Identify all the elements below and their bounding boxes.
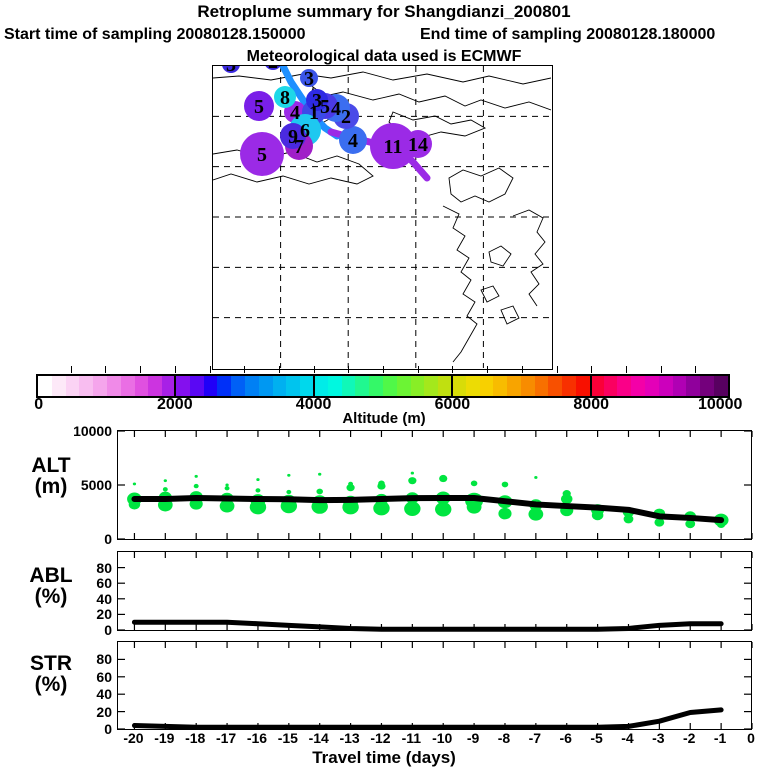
xtick-label--7: -7 xyxy=(529,730,541,746)
xtick-label--1: -1 xyxy=(714,730,726,746)
xtick-label--14: -14 xyxy=(309,730,329,746)
map-cluster-label: 3 xyxy=(226,66,236,76)
alt-scatter-blob xyxy=(286,490,291,494)
colorbar-segment-37 xyxy=(548,376,562,396)
map-canvas: 54532384245167931114 xyxy=(213,66,552,369)
alt-scatter-blob xyxy=(592,510,603,520)
alt-scatter-blob xyxy=(133,482,136,485)
xtick-label--11: -11 xyxy=(402,730,421,746)
colorbar-tick xyxy=(71,366,72,373)
alt-scatter-blob xyxy=(318,473,321,476)
map-cluster-label: 8 xyxy=(280,87,290,109)
colorbar-segment-21 xyxy=(328,376,342,396)
xtick-label--15: -15 xyxy=(278,730,298,746)
alt-scatter-blob xyxy=(624,515,634,524)
map-coastline xyxy=(513,210,545,306)
ytick-label-ABL-40: 40 xyxy=(40,591,112,607)
alt-scatter-blob xyxy=(378,481,385,487)
colorbar-tick xyxy=(314,366,315,373)
colorbar-tick xyxy=(210,366,211,373)
xtick-label--10: -10 xyxy=(432,730,452,746)
map-coastline xyxy=(213,72,551,84)
map-cluster-label: 2 xyxy=(268,66,278,73)
map-cluster-label: 14 xyxy=(408,134,428,156)
xtick-label--13: -13 xyxy=(339,730,359,746)
abl-panel[interactable] xyxy=(117,551,752,631)
xtick-label--2: -2 xyxy=(683,730,695,746)
map-cluster-label: 5 xyxy=(257,144,267,166)
colorbar-segment-6 xyxy=(121,376,135,396)
colorbar-divider-4000 xyxy=(313,374,315,398)
colorbar-divider-2000 xyxy=(174,374,176,398)
xtick-label--16: -16 xyxy=(247,730,267,746)
colorbar-tick xyxy=(522,366,523,373)
colorbar-segment-3 xyxy=(79,376,93,396)
alt-scatter-blob xyxy=(163,487,168,491)
altitude-colorbar[interactable] xyxy=(36,374,730,398)
alt-scatter-blob xyxy=(373,501,389,515)
map-cluster-label: 3 xyxy=(312,90,322,112)
alt-scatter-blob xyxy=(348,482,353,486)
ytick-label-STR-40: 40 xyxy=(40,686,112,702)
map-cluster-label: 11 xyxy=(384,136,403,158)
colorbar-segment-27 xyxy=(411,376,425,396)
colorbar-segment-31 xyxy=(466,376,480,396)
xtick-label--6: -6 xyxy=(559,730,571,746)
ytick-label-ABL-0: 0 xyxy=(40,622,112,638)
alt-scatter-blob xyxy=(255,488,260,492)
xtick-label--8: -8 xyxy=(498,730,510,746)
meteorological-data-note: Meteorological data used is ECMWF xyxy=(0,48,768,66)
ytick-label-STR-80: 80 xyxy=(40,651,112,667)
colorbar-segment-32 xyxy=(480,376,494,396)
colorbar-segment-28 xyxy=(424,376,438,396)
sampling-end-time: End time of sampling 20080128.180000 xyxy=(420,26,715,44)
colorbar-segment-45 xyxy=(659,376,673,396)
colorbar-tick xyxy=(383,366,384,373)
ytick-label-ALT-0: 0 xyxy=(40,531,112,547)
colorbar-segment-41 xyxy=(604,376,618,396)
colorbar-segment-13 xyxy=(217,376,231,396)
ytick-label-ALT-10000: 10000 xyxy=(40,423,112,439)
alt-scatter-blob xyxy=(435,502,451,516)
colorbar-segment-34 xyxy=(507,376,521,396)
abl-plot-area xyxy=(118,552,751,630)
ytick-label-ABL-80: 80 xyxy=(40,560,112,576)
colorbar-segment-1 xyxy=(52,376,66,396)
colorbar-segment-49 xyxy=(714,376,728,396)
xtick-label--20: -20 xyxy=(123,730,143,746)
alt-scatter-blob xyxy=(498,508,511,520)
colorbar-segment-7 xyxy=(135,376,149,396)
alt-panel[interactable] xyxy=(117,430,752,540)
colorbar-segment-12 xyxy=(204,376,218,396)
colorbar-segment-23 xyxy=(355,376,369,396)
colorbar-segment-36 xyxy=(535,376,549,396)
page-title: Retroplume summary for Shangdianzi_20080… xyxy=(0,2,768,22)
alt-scatter-blob xyxy=(250,500,266,514)
colorbar-tick xyxy=(140,366,141,373)
colorbar-segment-22 xyxy=(342,376,356,396)
map-cluster-label: 2 xyxy=(341,106,351,128)
alt-scatter-blob xyxy=(225,486,230,490)
alt-scatter-blob xyxy=(439,475,447,482)
colorbar-segment-39 xyxy=(576,376,590,396)
alt-scatter-blob xyxy=(411,472,414,475)
map-cluster-label: 3 xyxy=(304,68,314,90)
colorbar-tick xyxy=(348,366,349,373)
colorbar-segment-2 xyxy=(66,376,80,396)
colorbar-segment-30 xyxy=(452,376,466,396)
map-coastline xyxy=(501,306,519,324)
map-cluster-label: 5 xyxy=(254,96,264,118)
xtick-label--18: -18 xyxy=(185,730,205,746)
xtick-label--17: -17 xyxy=(216,730,236,746)
ytick-label-ABL-20: 20 xyxy=(40,606,112,622)
colorbar-segment-26 xyxy=(397,376,411,396)
colorbar-segment-16 xyxy=(259,376,273,396)
alt-scatter-blob xyxy=(563,490,571,497)
retroplume-map[interactable]: 54532384245167931114 xyxy=(212,65,553,370)
colorbar-tick xyxy=(279,366,280,373)
colorbar-segment-0 xyxy=(38,376,52,396)
alt-scatter-blob xyxy=(471,481,478,487)
colorbar-divider-6000 xyxy=(451,374,453,398)
colorbar-segment-11 xyxy=(190,376,204,396)
colorbar-tick xyxy=(695,366,696,373)
colorbar-tick xyxy=(452,366,453,373)
alt-plot-area xyxy=(118,431,751,539)
colorbar-segment-44 xyxy=(645,376,659,396)
alt-scatter-blob xyxy=(528,508,543,521)
colorbar-segment-15 xyxy=(245,376,259,396)
colorbar-segment-14 xyxy=(231,376,245,396)
colorbar-segment-25 xyxy=(383,376,397,396)
map-cluster-label: 4 xyxy=(290,102,300,124)
alt-scatter-blob xyxy=(256,478,259,481)
xtick-label--4: -4 xyxy=(621,730,633,746)
colorbar-segment-47 xyxy=(686,376,700,396)
map-cluster-label: 4 xyxy=(331,98,341,120)
alt-scatter-blob xyxy=(195,475,198,478)
colorbar-segment-29 xyxy=(438,376,452,396)
str-plot-area xyxy=(118,642,751,729)
xtick-label--19: -19 xyxy=(154,730,174,746)
alt-scatter-blob xyxy=(164,479,167,482)
colorbar-tick xyxy=(487,366,488,373)
colorbar-segment-42 xyxy=(617,376,631,396)
ytick-label-ABL-60: 60 xyxy=(40,575,112,591)
colorbar-segment-35 xyxy=(521,376,535,396)
alt-scatter-blob xyxy=(225,484,228,487)
colorbar-segment-10 xyxy=(176,376,190,396)
colorbar-tick xyxy=(244,366,245,373)
colorbar-segment-17 xyxy=(273,376,287,396)
map-coastline xyxy=(443,206,477,362)
ytick-label-STR-0: 0 xyxy=(40,721,112,737)
colorbar-segment-20 xyxy=(314,376,328,396)
colorbar-segment-5 xyxy=(107,376,121,396)
sampling-start-time: Start time of sampling 20080128.150000 xyxy=(4,26,306,44)
map-cluster-label: 4 xyxy=(348,130,358,152)
panel-mean-line xyxy=(134,710,721,727)
colorbar-segment-33 xyxy=(493,376,507,396)
xtick-label--3: -3 xyxy=(652,730,664,746)
colorbar-segment-4 xyxy=(93,376,107,396)
colorbar-tick xyxy=(626,366,627,373)
colorbar-tick xyxy=(661,366,662,373)
alt-scatter-blob xyxy=(194,484,199,488)
colorbar-title: Altitude (m) xyxy=(0,410,768,427)
colorbar-segment-38 xyxy=(562,376,576,396)
xtick-label-0: 0 xyxy=(747,730,755,746)
colorbar-tick xyxy=(418,366,419,373)
map-graphics: 54532384245167931114 xyxy=(213,66,551,368)
ytick-label-ALT-5000: 5000 xyxy=(40,477,112,493)
colorbar-tick xyxy=(591,366,592,373)
ytick-label-STR-20: 20 xyxy=(40,704,112,720)
colorbar-segment-24 xyxy=(369,376,383,396)
x-axis-title: Travel time (days) xyxy=(0,748,768,768)
panel-mean-line xyxy=(134,622,721,629)
colorbar-segment-18 xyxy=(286,376,300,396)
xtick-label--12: -12 xyxy=(370,730,390,746)
alt-scatter-blob xyxy=(404,502,420,516)
colorbar-tick xyxy=(175,366,176,373)
alt-scatter-blob xyxy=(287,474,290,477)
map-cluster-label: 9 xyxy=(288,126,298,148)
xtick-label--9: -9 xyxy=(467,730,479,746)
colorbar-segment-48 xyxy=(700,376,714,396)
colorbar-divider-8000 xyxy=(590,374,592,398)
alt-scatter-blob xyxy=(316,489,323,495)
xtick-label--5: -5 xyxy=(590,730,602,746)
colorbar-tick xyxy=(557,366,558,373)
alt-scatter-blob xyxy=(534,476,537,479)
colorbar-tick xyxy=(105,366,106,373)
str-panel[interactable] xyxy=(117,641,752,730)
alt-scatter-blob xyxy=(408,477,416,484)
alt-scatter-blob xyxy=(502,482,509,488)
map-coastline xyxy=(489,246,511,266)
ytick-label-STR-60: 60 xyxy=(40,669,112,685)
alt-scatter-blob xyxy=(467,501,482,514)
colorbar-segment-43 xyxy=(631,376,645,396)
map-coastline xyxy=(449,168,513,202)
colorbar-segment-46 xyxy=(673,376,687,396)
colorbar-segment-8 xyxy=(148,376,162,396)
